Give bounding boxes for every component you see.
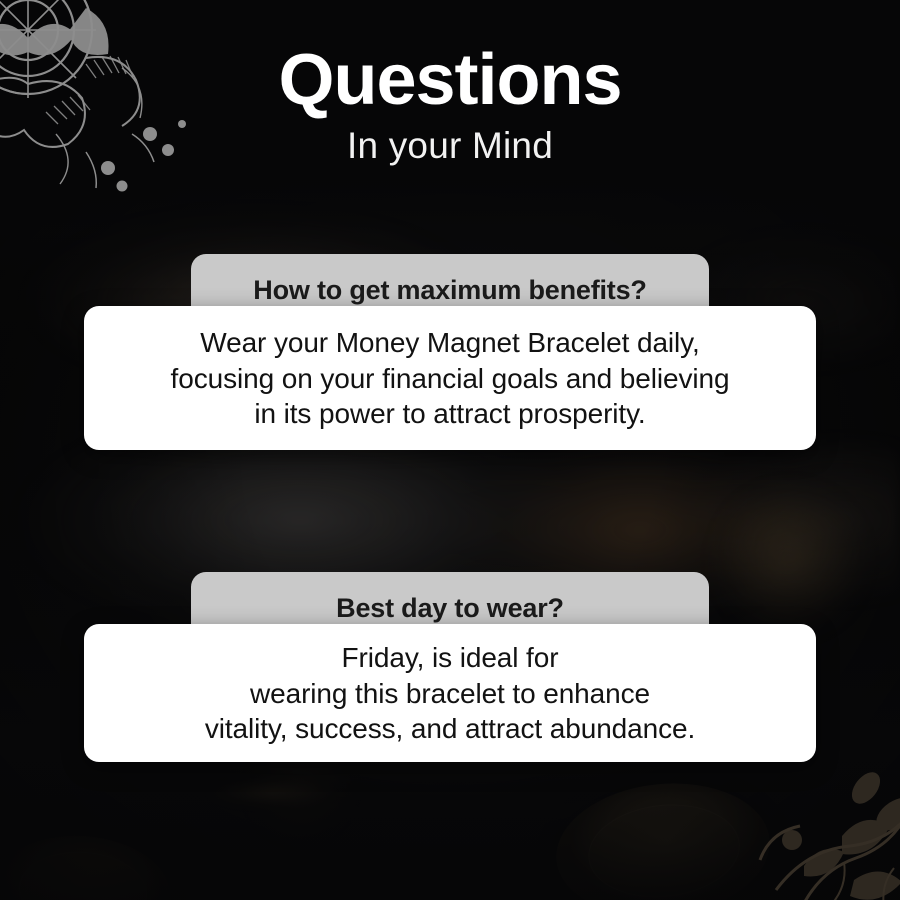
page-title: Questions bbox=[0, 44, 900, 116]
question-text-1: How to get maximum benefits? bbox=[215, 274, 685, 306]
promo-faq-canvas: Questions In your Mind How to get maximu… bbox=[0, 0, 900, 900]
faq-item-1: How to get maximum benefits? Wear your M… bbox=[0, 254, 900, 450]
answer-text-2: Friday, is ideal for wearing this bracel… bbox=[187, 640, 713, 746]
answer-card-2: Friday, is ideal for wearing this bracel… bbox=[84, 624, 816, 762]
gold-coin-bottom-left bbox=[0, 830, 174, 900]
answer-card-1: Wear your Money Magnet Bracelet daily, f… bbox=[84, 306, 816, 450]
gold-coin-bottom-right bbox=[550, 773, 777, 900]
question-text-2: Best day to wear? bbox=[215, 592, 685, 624]
floral-ornament-icon bbox=[746, 740, 900, 900]
answer-line: focusing on your financial goals and bel… bbox=[171, 363, 730, 394]
answer-line: vitality, success, and attract abundance… bbox=[205, 713, 695, 744]
answer-line: wearing this bracelet to enhance bbox=[250, 678, 650, 709]
answer-line: in its power to attract prosperity. bbox=[254, 398, 645, 429]
answer-line: Friday, is ideal for bbox=[342, 642, 559, 673]
answer-text-1: Wear your Money Magnet Bracelet daily, f… bbox=[153, 325, 748, 431]
faq-item-2: Best day to wear? Friday, is ideal for w… bbox=[0, 572, 900, 762]
coin-stand-glow bbox=[196, 782, 348, 810]
page-subtitle: In your Mind bbox=[0, 124, 900, 168]
answer-line: Wear your Money Magnet Bracelet daily, bbox=[200, 327, 699, 358]
header: Questions In your Mind bbox=[0, 44, 900, 168]
